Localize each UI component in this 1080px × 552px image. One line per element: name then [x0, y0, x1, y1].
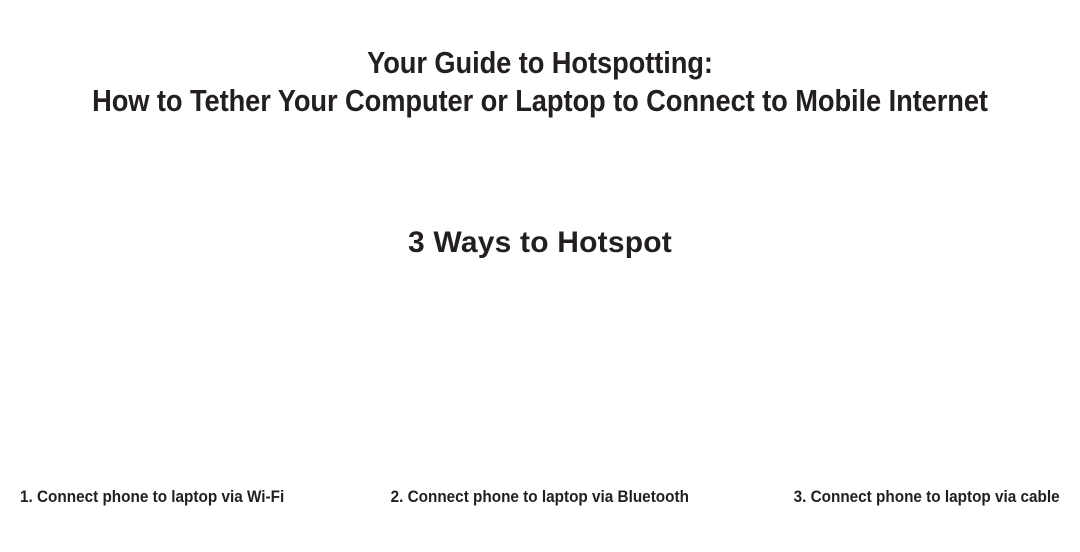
method-caption-3: 3. Connect phone to laptop via cable	[794, 486, 1060, 508]
method-item-2: 2. Connect phone to laptop via Bluetooth	[367, 486, 714, 508]
illustration-slot-cable	[720, 278, 1080, 476]
page-title-line-2: How to Tether Your Computer or Laptop to…	[65, 82, 1015, 120]
section-heading: 3 Ways to Hotspot	[0, 224, 1080, 262]
page-title-line-1: Your Guide to Hotspotting:	[65, 44, 1015, 82]
illustration-row	[0, 278, 1080, 476]
page-title: Your Guide to Hotspotting: How to Tether…	[0, 44, 1080, 120]
method-caption-row: 1. Connect phone to laptop via Wi-Fi 2. …	[0, 486, 1080, 518]
illustration-slot-bluetooth	[360, 278, 720, 476]
method-item-1: 1. Connect phone to laptop via Wi-Fi	[0, 486, 367, 508]
illustration-slot-wifi	[0, 278, 360, 476]
infographic-page: Your Guide to Hotspotting: How to Tether…	[0, 0, 1080, 552]
section-heading-label: 3 Ways to Hotspot	[408, 224, 672, 262]
method-item-3: 3. Connect phone to laptop via cable	[713, 486, 1080, 508]
method-caption-1: 1. Connect phone to laptop via Wi-Fi	[20, 486, 284, 508]
method-caption-2: 2. Connect phone to laptop via Bluetooth	[391, 486, 689, 508]
